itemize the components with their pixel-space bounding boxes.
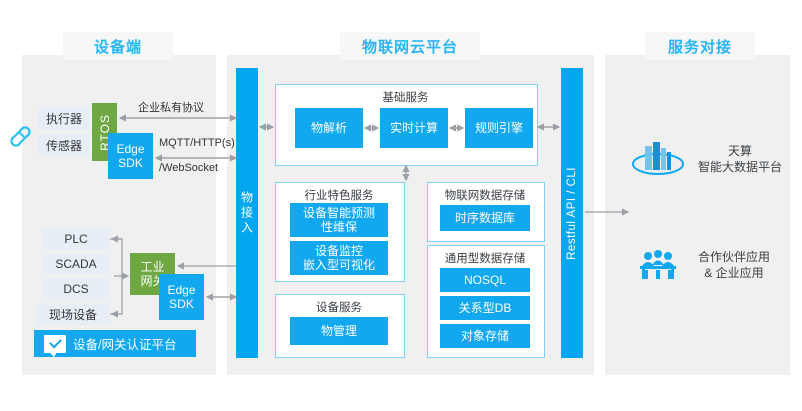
service-item-partners-line1: 合作伙伴应用 [698, 249, 770, 265]
industrial-item-field-device-label: 现场设备 [49, 306, 97, 323]
panel-title-device: 设备端 [63, 32, 173, 60]
service-item-partners-text: 合作伙伴应用 & 企业应用 [698, 249, 770, 281]
service-item-bigdata-text: 天算 智能大数据平台 [698, 143, 782, 175]
industrial-item-field-device[interactable]: 现场设备 [36, 303, 110, 325]
general-storage-nosql-label: NOSQL [464, 273, 506, 287]
industry-service-predictive-maintenance[interactable]: 设备智能预测 性维保 [290, 203, 388, 237]
industrial-item-scada[interactable]: SCADA [42, 253, 110, 275]
general-storage-relational-db[interactable]: 关系型DB [440, 296, 530, 320]
group-iot-storage-title: 物联网数据存储 [427, 187, 543, 203]
general-storage-relational-db-label: 关系型DB [459, 301, 512, 315]
basic-service-realtime-compute-label: 实时计算 [390, 121, 438, 135]
panel-title-platform: 物联网云平台 [340, 32, 480, 60]
edge-sdk-top-box[interactable]: Edge SDK [108, 133, 153, 179]
edge-sdk-bottom-box[interactable]: Edge SDK [159, 274, 204, 320]
group-general-storage-title: 通用型数据存储 [427, 250, 543, 266]
industrial-item-scada-label: SCADA [55, 257, 96, 271]
service-item-bigdata[interactable]: 天算 智能大数据平台 [630, 136, 785, 182]
service-item-bigdata-line2: 智能大数据平台 [698, 159, 782, 175]
device-endpoint-actuator-label: 执行器 [46, 110, 82, 127]
partners-meeting-icon [630, 244, 686, 286]
panel-title-device-label: 设备端 [94, 36, 142, 57]
industrial-item-plc[interactable]: PLC [42, 228, 110, 250]
basic-service-parse[interactable]: 物解析 [295, 108, 363, 148]
industrial-item-plc-label: PLC [64, 232, 87, 246]
service-item-partners[interactable]: 合作伙伴应用 & 企业应用 [630, 242, 785, 288]
group-basic-services-title: 基础服务 [275, 89, 536, 105]
industry-service-device-monitoring[interactable]: 设备监控 嵌入型可视化 [290, 241, 388, 275]
check-bubble-icon [44, 335, 66, 353]
industrial-item-dcs[interactable]: DCS [42, 278, 110, 300]
basic-service-parse-label: 物解析 [311, 121, 347, 135]
service-item-partners-line2: & 企业应用 [698, 265, 770, 281]
bigdata-platform-icon [630, 138, 686, 180]
ingress-bar[interactable]: 物接入 [236, 68, 258, 358]
iot-storage-timeseries-db[interactable]: 时序数据库 [440, 205, 530, 231]
device-endpoint-sensor-label: 传感器 [46, 137, 82, 154]
ingress-bar-label: 物接入 [239, 191, 256, 236]
group-device-services-title: 设备服务 [275, 299, 403, 315]
device-endpoint-sensor[interactable]: 传感器 [38, 133, 90, 157]
industrial-item-dcs-label: DCS [63, 282, 88, 296]
general-storage-object-storage-label: 对象存储 [461, 329, 509, 343]
basic-service-realtime-compute[interactable]: 实时计算 [380, 108, 448, 148]
protocol-websocket-label: /WebSocket [159, 162, 218, 174]
auth-platform-label: 设备/网关认证平台 [73, 334, 176, 353]
general-storage-nosql[interactable]: NOSQL [440, 268, 530, 292]
basic-service-rule-engine[interactable]: 规则引擎 [465, 108, 533, 148]
panel-service [605, 55, 790, 375]
protocol-mqtt-label: MQTT/HTTP(s) [159, 137, 235, 149]
restful-api-bar-label: Restful API / CLI [566, 167, 578, 260]
basic-service-rule-engine-label: 规则引擎 [475, 121, 523, 135]
service-item-bigdata-line1: 天算 [698, 143, 782, 159]
device-service-thing-management-label: 物管理 [321, 324, 357, 338]
diagram-root: 设备端 物联网云平台 服务对接 执行器 传感器 RTOS Edge SDK 企业… [0, 0, 802, 411]
device-service-thing-management[interactable]: 物管理 [290, 317, 388, 345]
auth-platform-bar[interactable]: 设备/网关认证平台 [34, 330, 196, 357]
restful-api-bar[interactable]: Restful API / CLI [561, 68, 583, 358]
panel-title-service-label: 服务对接 [668, 36, 732, 57]
panel-title-platform-label: 物联网云平台 [362, 36, 458, 57]
group-industry-services-title: 行业特色服务 [275, 187, 403, 203]
iot-storage-timeseries-db-label: 时序数据库 [455, 211, 515, 225]
protocol-private-label: 企业私有协议 [138, 99, 204, 115]
device-endpoint-actuator[interactable]: 执行器 [38, 106, 90, 130]
general-storage-object-storage[interactable]: 对象存储 [440, 324, 530, 348]
panel-title-service: 服务对接 [645, 32, 755, 60]
